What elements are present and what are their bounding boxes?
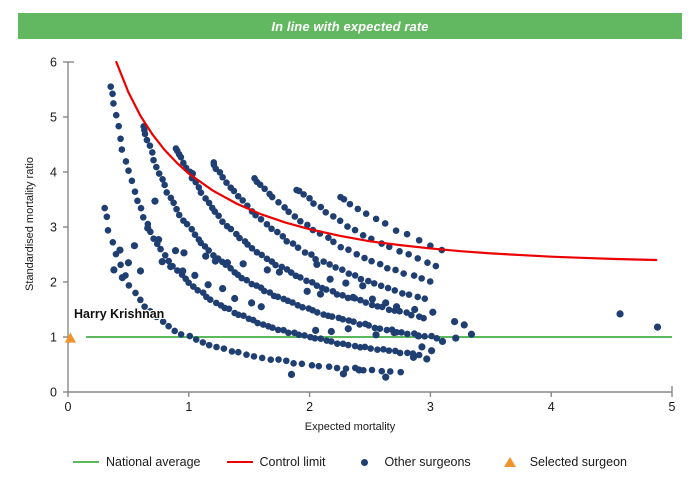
scatter-point [161, 182, 168, 189]
scatter-point [132, 188, 139, 195]
scatter-point [288, 371, 295, 378]
scatter-point [352, 272, 359, 279]
scatter-point [414, 294, 421, 301]
legend-item[interactable]: Selected surgeon [497, 455, 627, 469]
chart-legend: National averageControl limitOther surge… [0, 455, 700, 469]
scatter-point [380, 346, 387, 353]
scatter-point [268, 225, 275, 232]
scatter-point [267, 356, 274, 363]
scatter-point [198, 189, 205, 196]
scatter-point [337, 244, 344, 251]
scatter-point [236, 235, 243, 242]
control-limit-line [116, 62, 656, 260]
scatter-point [404, 331, 411, 338]
orange-triangle-icon [497, 456, 523, 468]
scatter-point [219, 285, 226, 292]
scatter-point [125, 259, 132, 266]
scatter-point [299, 304, 306, 311]
scatter-point [269, 324, 276, 331]
scatter-point [363, 299, 370, 306]
scatter-point [410, 354, 417, 361]
scatter-point [110, 239, 117, 246]
scatter-point [387, 368, 394, 375]
scatter-point [193, 336, 200, 343]
scatter-point [109, 91, 116, 98]
scatter-point [261, 186, 268, 193]
scatter-point [178, 154, 185, 161]
scatter-point [317, 204, 324, 211]
scatter-point [213, 344, 220, 351]
scatter-point [404, 231, 411, 238]
scatter-point [310, 200, 317, 207]
scatter-point [226, 305, 233, 312]
scatter-point [315, 363, 322, 370]
y-axis-tick-label: 2 [50, 276, 57, 290]
scatter-point [231, 188, 238, 195]
scatter-point [272, 262, 279, 269]
scatter-point [101, 205, 108, 212]
scatter-point [215, 213, 222, 220]
scatter-point [334, 291, 341, 298]
scatter-point [616, 310, 623, 317]
scatter-point [119, 274, 126, 281]
y-axis-tick-label: 3 [50, 221, 57, 235]
red-line-icon [227, 456, 253, 468]
scatter-point [359, 282, 366, 289]
scatter-point [149, 149, 156, 156]
scatter-point [219, 174, 226, 181]
scatter-point [140, 214, 147, 221]
scatter-point [312, 327, 319, 334]
scatter-point [104, 213, 111, 220]
scatter-point [137, 297, 144, 304]
scatter-point [329, 313, 336, 320]
scatter-point [275, 356, 282, 363]
scatter-point [320, 258, 327, 265]
scatter-point [345, 325, 352, 332]
scatter-point [396, 248, 403, 255]
scatter-point [110, 266, 117, 273]
scatter-point [385, 285, 392, 292]
x-axis-title: Expected mortality [0, 421, 700, 433]
scatter-point [354, 206, 361, 213]
green-line-icon-glyph [73, 461, 99, 464]
scatter-point [344, 223, 351, 230]
scatter-point [400, 270, 407, 277]
scatter-point [153, 164, 160, 171]
scatter-point [239, 197, 246, 204]
scatter-point [373, 216, 380, 223]
scatter-point [206, 342, 213, 349]
orange-triangle-icon-glyph [504, 457, 516, 467]
funnel-chart-svg: 0123456012345 [0, 0, 700, 445]
scatter-point [393, 227, 400, 234]
scatter-point [261, 288, 268, 295]
scatter-point [414, 255, 421, 262]
scatter-point [397, 369, 404, 376]
y-axis-tick-label: 6 [50, 56, 57, 70]
scatter-point [200, 339, 207, 346]
scatter-point [235, 349, 242, 356]
scatter-point [654, 324, 661, 331]
scatter-point [340, 370, 347, 377]
scatter-point [452, 335, 459, 342]
scatter-point [374, 346, 381, 353]
scatter-point [259, 355, 266, 362]
scatter-point [228, 226, 235, 233]
scatter-point [346, 270, 353, 277]
x-axis-tick-label: 4 [548, 400, 555, 414]
legend-item[interactable]: Control limit [227, 455, 326, 469]
scatter-point [332, 264, 339, 271]
scatter-point [393, 303, 400, 310]
scatter-point [240, 260, 247, 267]
scatter-point [362, 344, 369, 351]
scatter-point [382, 220, 389, 227]
scatter-point [415, 332, 422, 339]
scatter-point [202, 253, 209, 260]
scatter-point [365, 322, 372, 329]
scatter-point [254, 320, 261, 327]
scatter-point [461, 321, 468, 328]
scatter-point [313, 261, 320, 268]
scatter-point [326, 363, 333, 370]
scatter-point [184, 221, 191, 228]
scatter-point [221, 345, 228, 352]
scatter-point [300, 191, 307, 198]
scatter-point [371, 280, 378, 287]
scatter-point [155, 236, 162, 243]
navy-dot-icon [352, 456, 378, 468]
scatter-point [367, 345, 374, 352]
scatter-point [350, 318, 357, 325]
scatter-point [275, 199, 282, 206]
scatter-point [297, 218, 304, 225]
scatter-point [328, 338, 335, 345]
scatter-point [399, 290, 406, 297]
scatter-point [314, 309, 321, 316]
scatter-point [299, 361, 306, 368]
scatter-point [144, 225, 151, 232]
scatter-point [126, 282, 133, 289]
scatter-point [144, 137, 151, 144]
scatter-point [369, 367, 376, 374]
scatter-point [433, 263, 440, 270]
x-axis-tick-label: 0 [65, 400, 72, 414]
green-line-icon [73, 456, 99, 468]
scatter-point [274, 229, 281, 236]
y-axis-tick-label: 0 [50, 386, 57, 400]
scatter-point [345, 246, 352, 253]
scatter-point [322, 209, 329, 216]
scatter-point [317, 335, 324, 342]
scatter-point [361, 255, 368, 262]
scatter-point [165, 323, 172, 330]
scatter-point [283, 357, 290, 364]
scatter-point [424, 259, 431, 266]
scatter-point [186, 333, 193, 340]
scatter-point [429, 309, 436, 316]
scatter-point [283, 238, 290, 245]
scatter-point [369, 295, 376, 302]
scatter-point [363, 210, 370, 217]
scatter-point [345, 342, 352, 349]
scatter-point [405, 251, 412, 258]
scatter-point [179, 267, 186, 274]
scatter-point [269, 194, 276, 201]
scatter-point [205, 281, 212, 288]
scatter-point [285, 209, 292, 216]
scatter-point [411, 272, 418, 279]
scatter-point [327, 276, 334, 283]
scatter-point [411, 306, 418, 313]
scatter-point [398, 329, 405, 336]
scatter-point [151, 198, 158, 205]
scatter-point [117, 135, 124, 142]
legend-item-label: National average [106, 455, 201, 469]
scatter-point [212, 258, 219, 265]
scatter-point [349, 294, 356, 301]
scatter-point [258, 252, 265, 259]
navy-dot-icon-glyph [361, 459, 368, 466]
scatter-point [328, 328, 335, 335]
scatter-point [147, 142, 154, 149]
funnel-plot-page: In line with expected rate 0123456012345… [0, 0, 700, 500]
scatter-point [337, 218, 344, 225]
scatter-point [384, 265, 391, 272]
scatter-point [110, 100, 117, 107]
scatter-point [360, 232, 367, 239]
scatter-point [125, 167, 132, 174]
scatter-point [134, 198, 141, 205]
x-axis-tick-label: 1 [185, 400, 192, 414]
scatter-point [353, 251, 360, 258]
scatter-point [386, 347, 393, 354]
scatter-point [304, 288, 311, 295]
scatter-point [352, 227, 359, 234]
scatter-point [330, 238, 337, 245]
scatter-point [113, 112, 120, 119]
scatter-point [251, 353, 258, 360]
scatter-point [418, 343, 425, 350]
legend-item-label: Control limit [260, 455, 326, 469]
scatter-point [285, 329, 292, 336]
scatter-point [229, 348, 236, 355]
scatter-point [302, 249, 309, 256]
scatter-point [397, 350, 404, 357]
scatter-point [107, 83, 114, 90]
x-axis-tick-label: 3 [427, 400, 434, 414]
scatter-point [178, 331, 185, 338]
scatter-point [451, 318, 458, 325]
scatter-point [372, 331, 379, 338]
red-line-icon-glyph [227, 461, 253, 464]
scatter-point [406, 291, 413, 298]
scatter-point [378, 368, 385, 375]
scatter-point [276, 269, 283, 276]
scatter-point [468, 331, 475, 338]
scatter-point [392, 267, 399, 274]
scatter-point [129, 178, 136, 185]
scatter-point [117, 262, 124, 269]
scatter-point [132, 290, 139, 297]
x-axis-tick-label: 2 [306, 400, 313, 414]
scatter-point [391, 287, 398, 294]
scatter-point [123, 158, 130, 165]
scatter-point [382, 299, 389, 306]
scatter-point [295, 244, 302, 251]
scatter-point [290, 360, 297, 367]
scatter-point [306, 195, 313, 202]
scatter-point [368, 258, 375, 265]
scatter-point [323, 286, 330, 293]
scatter-point [378, 282, 385, 289]
scatter-point [341, 196, 348, 203]
y-axis-tick-label: 4 [50, 166, 57, 180]
scatter-point [243, 351, 250, 358]
scatter-point [105, 227, 112, 234]
scatter-point [303, 277, 310, 284]
scatter-point [170, 199, 177, 206]
scatter-point [386, 307, 393, 314]
scatter-point [172, 247, 179, 254]
scatter-point [138, 205, 145, 212]
scatter-point [248, 299, 255, 306]
scatter-point [176, 212, 183, 219]
scatter-point [258, 216, 265, 223]
scatter-point [416, 237, 423, 244]
scatter-point [391, 329, 398, 336]
scatter-point [142, 131, 149, 138]
scatter-point [330, 213, 337, 220]
selected-surgeon-label: Harry Krishnan [74, 307, 164, 321]
scatter-point [356, 366, 363, 373]
scatter-point [275, 293, 282, 300]
scatter-point [188, 226, 195, 233]
scatter-point [290, 240, 297, 247]
scatter-point [326, 261, 333, 268]
scatter-point [159, 258, 166, 265]
scatter-point [224, 259, 231, 266]
y-axis-title: Standardised mortality ratio [24, 124, 36, 324]
scatter-point [342, 280, 349, 287]
scatter-point [421, 295, 428, 302]
scatter-point [162, 252, 169, 259]
scatter-point [377, 325, 384, 332]
scatter-point [418, 275, 425, 282]
scatter-point [258, 303, 265, 310]
scatter-point [163, 189, 170, 196]
scatter-point [423, 355, 430, 362]
scatter-point [231, 295, 238, 302]
chart-plot-area: 0123456012345 Expected mortality Standar… [0, 0, 700, 445]
scatter-point [347, 201, 354, 208]
scatter-point [301, 332, 308, 339]
scatter-point [358, 276, 365, 283]
scatter-point [150, 157, 157, 164]
scatter-point [167, 263, 174, 270]
scatter-point [156, 170, 163, 177]
scatter-point [115, 123, 122, 130]
scatter-point [317, 291, 324, 298]
scatter-point [264, 266, 271, 273]
scatter-point [428, 347, 435, 354]
scatter-point [421, 333, 428, 340]
scatter-point [116, 247, 123, 254]
scatter-point [207, 296, 214, 303]
y-axis-tick-label: 5 [50, 111, 57, 125]
scatter-point [159, 176, 166, 183]
scatter-point [171, 328, 178, 335]
scatter-point [173, 206, 180, 213]
scatter-point [137, 267, 144, 274]
scatter-point [377, 261, 384, 268]
scatter-point [296, 331, 303, 338]
scatter-point [157, 246, 164, 253]
scatter-point [312, 335, 319, 342]
scatter-point [334, 365, 341, 372]
scatter-point [356, 321, 363, 328]
scatter-point [309, 362, 316, 369]
scatter-point [119, 146, 126, 153]
legend-item[interactable]: Other surgeons [352, 455, 471, 469]
scatter-point [297, 274, 304, 281]
x-axis-tick-label: 5 [669, 400, 676, 414]
scatter-point [131, 242, 138, 249]
scatter-point [439, 338, 446, 345]
scatter-point [180, 249, 187, 256]
scatter-point [420, 315, 427, 322]
scatter-point [339, 266, 346, 273]
legend-item-label: Other surgeons [385, 455, 471, 469]
legend-item-label: Selected surgeon [530, 455, 627, 469]
scatter-point [427, 278, 434, 285]
scatter-point [191, 272, 198, 279]
scatter-point [382, 374, 389, 381]
scatter-point [365, 278, 372, 285]
scatter-point [340, 316, 347, 323]
scatter-point [334, 340, 341, 347]
legend-item[interactable]: National average [73, 455, 201, 469]
scatter-point [292, 213, 299, 220]
y-axis-tick-label: 1 [50, 331, 57, 345]
